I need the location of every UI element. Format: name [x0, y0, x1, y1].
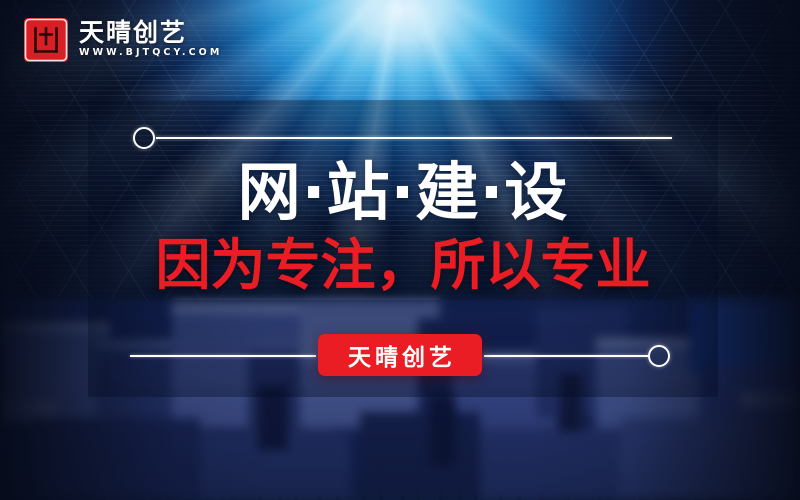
circle-endcap-icon	[133, 127, 155, 149]
brand-badge: 天晴创艺	[318, 334, 482, 376]
tq-monogram-icon	[24, 18, 68, 62]
top-divider-rule	[156, 137, 672, 139]
brand-logo-text: 天晴创艺 WWW.BJTQCY.COM	[79, 19, 222, 60]
page-title: 网·站·建·设	[88, 160, 718, 226]
headline-block: 网·站·建·设 因为专注，所以专业	[88, 160, 718, 296]
brand-name: 天晴创艺	[79, 19, 222, 46]
page-subtitle: 因为专注，所以专业	[88, 236, 718, 295]
bottom-divider-rule-left	[130, 355, 316, 357]
brand-website: WWW.BJTQCY.COM	[79, 46, 222, 60]
promo-banner: 网·站·建·设 因为专注，所以专业 天晴创艺 天晴创艺 WWW.BJTQCY.C	[0, 0, 800, 500]
circle-endcap-icon	[648, 345, 670, 367]
brand-logo[interactable]: 天晴创艺 WWW.BJTQCY.COM	[24, 18, 222, 62]
bottom-divider-rule-right	[484, 355, 648, 357]
brand-badge-label: 天晴创艺	[344, 338, 456, 372]
